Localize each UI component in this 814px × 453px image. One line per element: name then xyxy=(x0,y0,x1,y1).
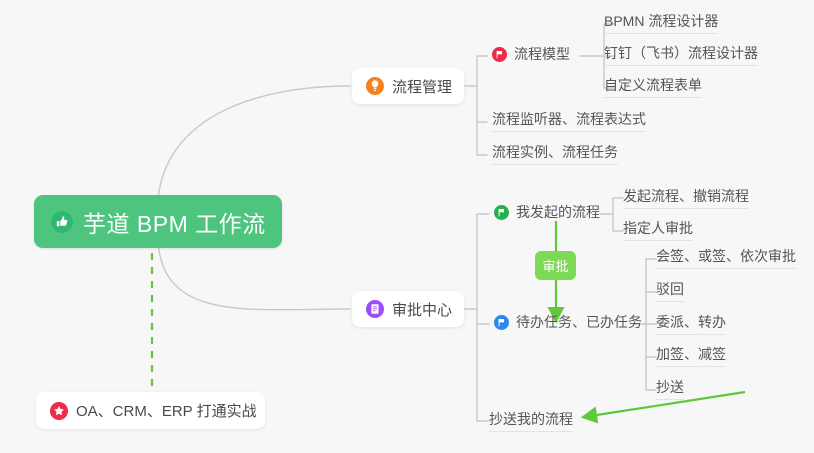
node-process-model[interactable]: 流程模型 xyxy=(492,44,570,66)
node-label: 抄送我的流程 xyxy=(489,409,573,429)
node-label: 加签、减签 xyxy=(656,344,726,364)
branch-approval-center[interactable]: 审批中心 xyxy=(352,291,464,327)
branch-label: 审批中心 xyxy=(392,299,452,320)
node-start-cancel[interactable]: 发起流程、撤销流程 xyxy=(623,186,749,209)
node-label: 待办任务、已办任务 xyxy=(516,312,642,332)
star-icon xyxy=(50,402,68,420)
node-label: 流程实例、流程任务 xyxy=(492,142,618,162)
node-label: 流程模型 xyxy=(514,44,570,64)
root-node[interactable]: 芋道 BPM 工作流 xyxy=(34,195,282,248)
document-icon xyxy=(366,300,384,318)
node-label: 指定人审批 xyxy=(623,218,693,238)
node-cc[interactable]: 抄送 xyxy=(656,377,684,400)
node-listener-expression[interactable]: 流程监听器、流程表达式 xyxy=(492,109,646,132)
bottom-note-label: OA、CRM、ERP 打通实战 xyxy=(76,400,257,421)
node-my-initiated[interactable]: 我发起的流程 xyxy=(494,202,600,224)
node-bpmn-designer[interactable]: BPMN 流程设计器 xyxy=(604,11,718,34)
node-instance-task[interactable]: 流程实例、流程任务 xyxy=(492,142,618,165)
node-countersign[interactable]: 会签、或签、依次审批 xyxy=(656,246,796,269)
node-assignee-approval[interactable]: 指定人审批 xyxy=(623,218,693,241)
flag-icon-red xyxy=(492,47,507,62)
approval-tag-label: 审批 xyxy=(542,256,568,275)
approval-tag: 审批 xyxy=(535,251,576,280)
node-custom-process-form[interactable]: 自定义流程表单 xyxy=(604,75,702,98)
node-label: 流程监听器、流程表达式 xyxy=(492,109,646,129)
node-label: 会签、或签、依次审批 xyxy=(656,246,796,266)
node-label: 我发起的流程 xyxy=(516,202,600,222)
branch-label: 流程管理 xyxy=(392,76,452,97)
bottom-note[interactable]: OA、CRM、ERP 打通实战 xyxy=(36,392,265,429)
node-label: 驳回 xyxy=(656,279,684,299)
node-reject[interactable]: 驳回 xyxy=(656,279,684,302)
flag-icon-blue xyxy=(494,315,509,330)
node-label: 委派、转办 xyxy=(656,312,726,332)
branch-process-management[interactable]: 流程管理 xyxy=(352,68,464,104)
node-cc-to-me[interactable]: 抄送我的流程 xyxy=(489,409,573,432)
node-label: 发起流程、撤销流程 xyxy=(623,186,749,206)
root-label: 芋道 BPM 工作流 xyxy=(83,205,266,239)
node-todo-done[interactable]: 待办任务、已办任务 xyxy=(494,312,642,334)
node-label: 抄送 xyxy=(656,377,684,397)
node-add-remove-sign[interactable]: 加签、减签 xyxy=(656,344,726,367)
node-label: 自定义流程表单 xyxy=(604,75,702,95)
node-label: BPMN 流程设计器 xyxy=(604,11,718,31)
node-dingtalk-feishu-designer[interactable]: 钉钉（飞书）流程设计器 xyxy=(604,43,758,66)
lightbulb-icon xyxy=(366,77,384,95)
thumbs-up-icon xyxy=(50,210,74,234)
node-label: 钉钉（飞书）流程设计器 xyxy=(604,43,758,63)
flag-icon-green xyxy=(494,205,509,220)
mindmap-canvas: 芋道 BPM 工作流 流程管理 流程模型 BPMN 流程设计器 钉钉（飞书）流程 xyxy=(0,0,814,453)
node-delegate-transfer[interactable]: 委派、转办 xyxy=(656,312,726,335)
